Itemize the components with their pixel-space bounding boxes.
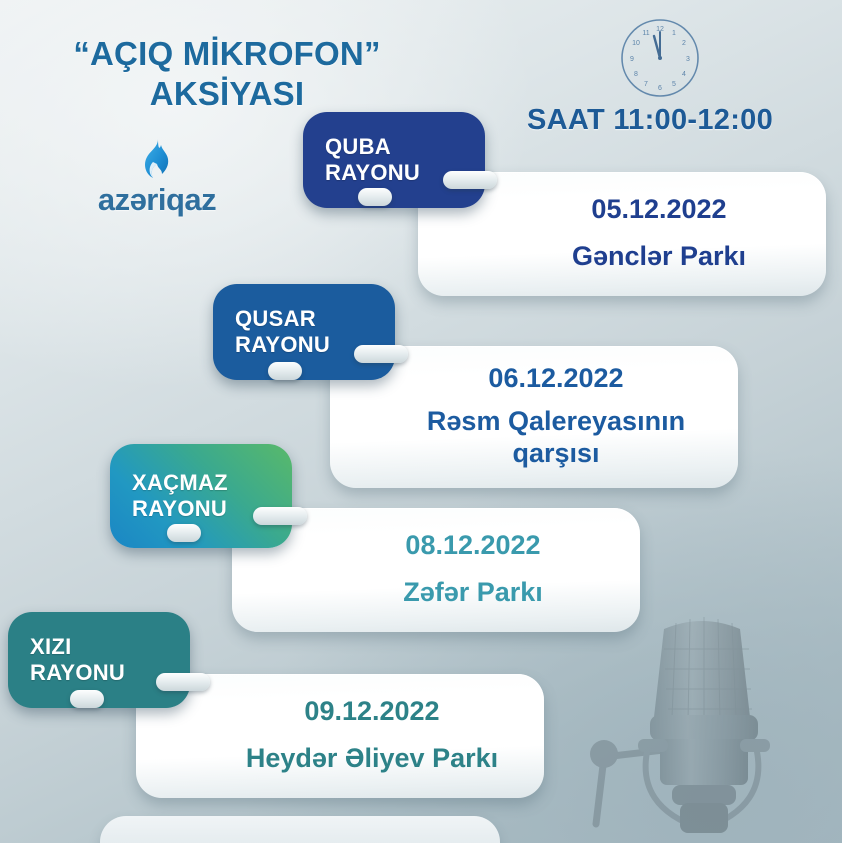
tab-connector [167, 524, 201, 542]
district-name: XAÇMAZ [132, 470, 292, 496]
district-tab[interactable]: QUSAR RAYONU [213, 284, 395, 380]
time-label: SAAT 11:00-12:00 [500, 104, 800, 137]
tab-connector [268, 362, 302, 380]
district-name: QUBA [325, 134, 485, 160]
svg-text:3: 3 [686, 56, 690, 63]
tab-connector [253, 507, 307, 525]
svg-text:9: 9 [630, 56, 634, 63]
svg-text:1: 1 [672, 30, 676, 37]
svg-text:5: 5 [672, 81, 676, 88]
svg-text:10: 10 [632, 40, 640, 47]
tab-connector [358, 188, 392, 206]
event-place: Rəsm Qalereyasının qarşısı [401, 405, 711, 470]
event-place: Zəfər Parkı [403, 576, 543, 608]
azeriqaz-logo: azəriqaz [72, 138, 242, 215]
clock-icon: 1212 345 678 91011 [618, 16, 702, 100]
page-title: “AÇIQ MİKROFON” AKSİYASI [12, 34, 442, 115]
district-tab[interactable]: QUBA RAYONU [303, 112, 485, 208]
event-date: 05.12.2022 [591, 194, 726, 226]
event-place: Gənclər Parkı [572, 240, 746, 272]
svg-text:11: 11 [642, 30, 649, 37]
svg-text:8: 8 [634, 71, 638, 78]
event-card[interactable]: 08.12.2022 Zəfər Parkı [232, 508, 640, 632]
svg-text:7: 7 [644, 81, 648, 88]
flame-icon [140, 138, 174, 180]
district-name: XIZI [30, 634, 190, 660]
svg-text:4: 4 [682, 71, 686, 78]
title-line-1: “AÇIQ MİKROFON” [73, 35, 380, 72]
district-name: QUSAR [235, 306, 395, 332]
event-date: 09.12.2022 [304, 696, 439, 728]
event-date: 08.12.2022 [405, 530, 540, 562]
tab-connector [443, 171, 497, 189]
event-place: Heydər Əliyev Parkı [246, 742, 498, 774]
event-card-partial[interactable] [100, 816, 500, 843]
event-card[interactable]: 09.12.2022 Heydər Əliyev Parkı [136, 674, 544, 798]
event-date: 06.12.2022 [488, 363, 623, 395]
svg-text:6: 6 [658, 85, 662, 92]
svg-text:2: 2 [682, 40, 686, 47]
tab-connector [354, 345, 408, 363]
tab-connector [70, 690, 104, 708]
poster-canvas: “AÇIQ MİKROFON” AKSİYASI azəriqaz 1212 3… [0, 0, 842, 843]
district-tab[interactable]: XAÇMAZ RAYONU [110, 444, 292, 548]
azeriqaz-wordmark: azəriqaz [72, 184, 242, 215]
title-line-2: AKSİYASI [12, 74, 442, 114]
tab-connector [156, 673, 210, 691]
